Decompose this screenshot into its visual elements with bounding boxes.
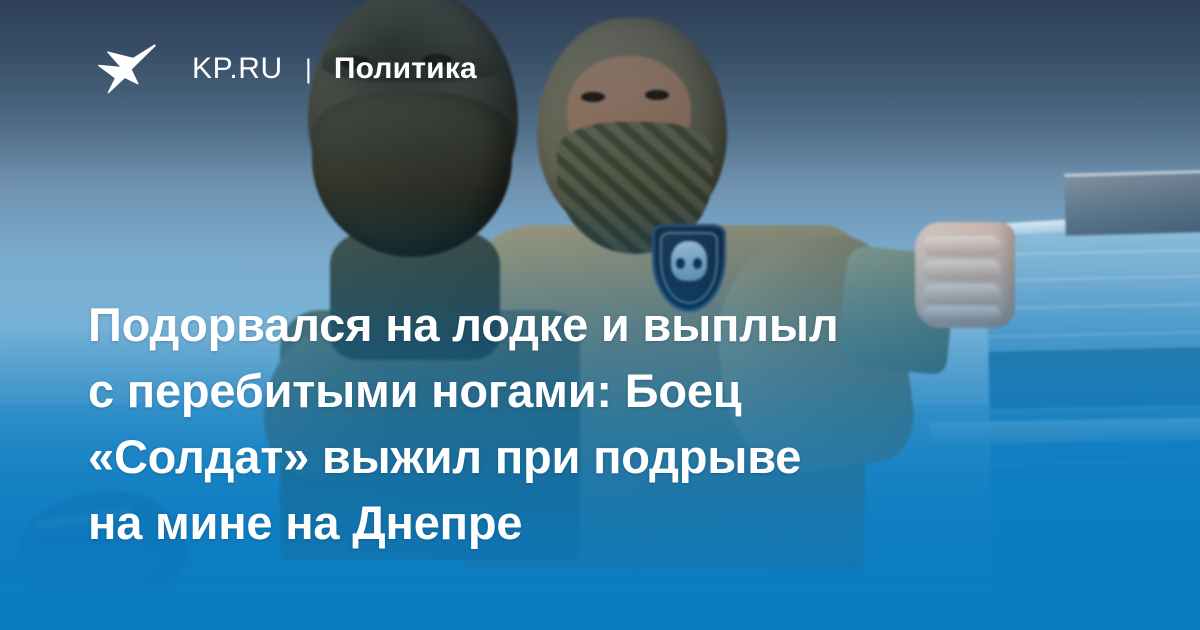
headline-line-4: на мине на Днепре: [88, 490, 1038, 556]
brand-name[interactable]: KP.RU: [192, 52, 283, 86]
soldier-back-eye-right: [645, 90, 669, 100]
headline-line-2: с перебитыми ногами: Боец: [88, 358, 1038, 424]
soldier-front-balaclava: [312, 92, 512, 257]
header-separator: |: [305, 54, 312, 85]
share-card: KP.RU | Политика Подорвался на лодке и в…: [0, 0, 1200, 630]
headline: Подорвался на лодке и выплыл с перебитым…: [88, 292, 1038, 556]
headline-line-3: «Солдат» выжил при подрыве: [88, 424, 1038, 490]
finger: [923, 236, 1001, 256]
boat-rib: [987, 274, 1200, 282]
skull-icon: [671, 241, 707, 281]
finger: [923, 260, 1001, 280]
boat-equipment-box: [1064, 170, 1200, 236]
headline-line-1: Подорвался на лодке и выплыл: [88, 292, 1038, 358]
card-header: KP.RU | Политика: [96, 38, 477, 100]
swallow-bird-logo-icon[interactable]: [96, 38, 158, 100]
rubric-label[interactable]: Политика: [334, 52, 477, 86]
boat-rib: [986, 248, 1200, 256]
